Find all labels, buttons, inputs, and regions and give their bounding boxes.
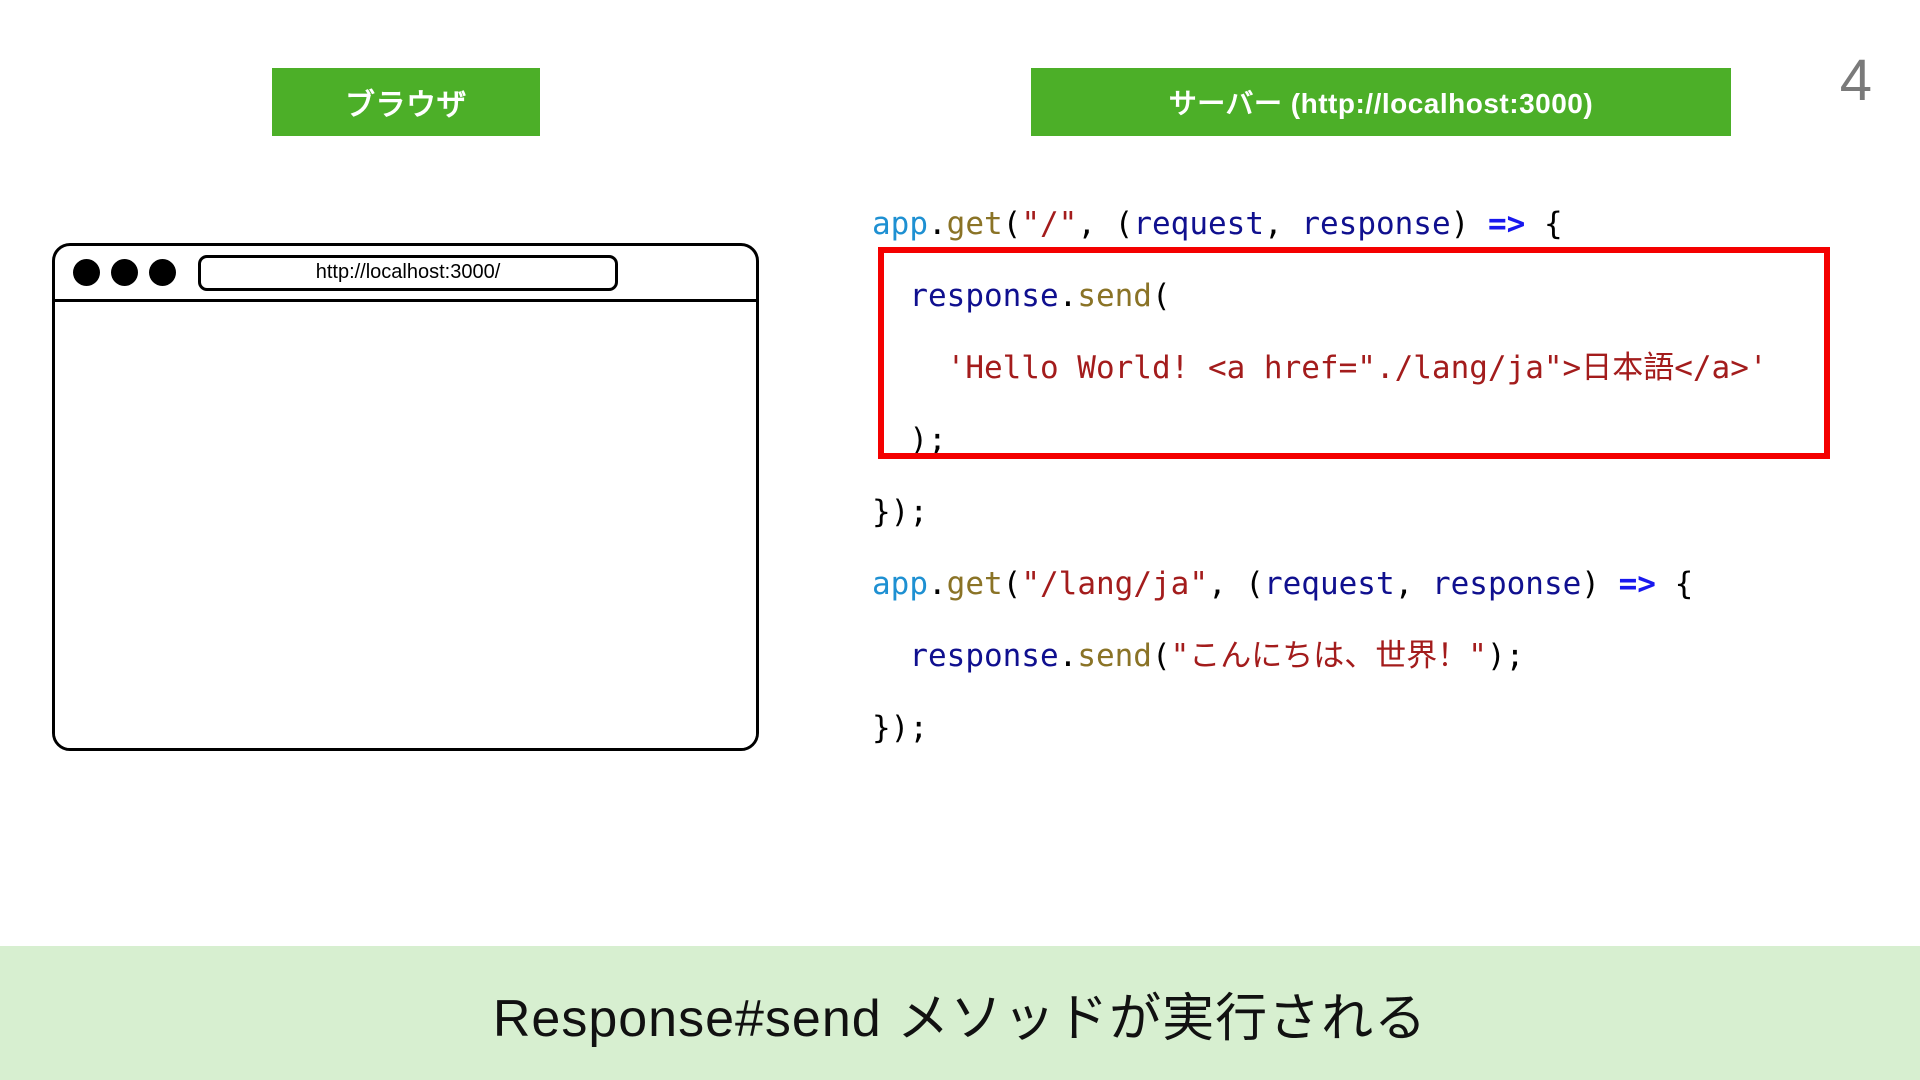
code-token-param: request: [1133, 206, 1264, 242]
code-line: );: [872, 404, 1882, 476]
code-line: response.send(: [872, 260, 1882, 332]
window-dot-icon[interactable]: [111, 259, 138, 286]
code-token-plain: ): [1451, 206, 1488, 242]
code-token-plain: ): [1581, 566, 1618, 602]
code-token-obj: app: [872, 566, 928, 602]
code-token-str: "/lang/ja": [1021, 566, 1208, 602]
code-token-plain: [872, 278, 909, 314]
code-token-param: request: [1264, 566, 1395, 602]
code-token-plain: , (: [1077, 206, 1133, 242]
code-token-plain: (: [1003, 206, 1022, 242]
code-line: });: [872, 692, 1882, 764]
browser-viewport: [55, 302, 756, 748]
code-token-plain: ,: [1395, 566, 1432, 602]
code-token-plain: ,: [1264, 206, 1301, 242]
code-line: });: [872, 476, 1882, 548]
code-token-plain: , (: [1208, 566, 1264, 602]
code-token-param: response: [909, 638, 1058, 674]
code-token-plain: });: [872, 710, 928, 746]
code-token-param: response: [909, 278, 1058, 314]
code-token-plain: {: [1525, 206, 1562, 242]
page-number: 4: [1840, 52, 1872, 110]
code-token-arrow: =>: [1619, 566, 1656, 602]
code-line: 'Hello World! <a href="./lang/ja">日本語</a…: [872, 332, 1882, 404]
address-bar[interactable]: http://localhost:3000/: [198, 255, 618, 291]
server-column-header-label: サーバー (http://localhost:3000): [1169, 82, 1593, 122]
code-token-plain: .: [928, 206, 947, 242]
code-token-method: get: [947, 566, 1003, 602]
code-line: response.send("こんにちは、世界！");: [872, 620, 1882, 692]
code-token-str: "/": [1021, 206, 1077, 242]
code-line: app.get("/", (request, response) => {: [872, 188, 1882, 260]
code-token-str: 'Hello World! <a href="./lang/ja">日本語</a…: [947, 350, 1768, 386]
browser-toolbar: http://localhost:3000/: [55, 246, 756, 302]
code-token-plain: );: [1487, 638, 1524, 674]
code-token-method: send: [1077, 278, 1152, 314]
code-token-plain: (: [1152, 278, 1171, 314]
code-token-method: get: [947, 206, 1003, 242]
code-token-plain: [872, 350, 947, 386]
code-token-plain: );: [872, 422, 947, 458]
server-column-header: サーバー (http://localhost:3000): [1031, 68, 1731, 136]
code-token-arrow: =>: [1488, 206, 1525, 242]
window-dot-icon[interactable]: [149, 259, 176, 286]
code-line: app.get("/lang/ja", (request, response) …: [872, 548, 1882, 620]
browser-window-mock: http://localhost:3000/: [52, 243, 759, 751]
code-token-plain: [872, 638, 909, 674]
code-token-plain: (: [1003, 566, 1022, 602]
code-token-str: "こんにちは、世界！": [1171, 638, 1487, 674]
code-token-plain: });: [872, 494, 928, 530]
address-bar-url: http://localhost:3000/: [316, 261, 501, 284]
code-token-plain: {: [1656, 566, 1693, 602]
code-token-plain: .: [1059, 638, 1078, 674]
browser-column-header-label: ブラウザ: [345, 80, 467, 124]
code-token-param: response: [1301, 206, 1450, 242]
code-token-plain: .: [1059, 278, 1078, 314]
browser-column-header: ブラウザ: [272, 68, 540, 136]
code-token-method: send: [1077, 638, 1152, 674]
window-dot-icon[interactable]: [73, 259, 100, 286]
server-code-block: app.get("/", (request, response) => { re…: [872, 188, 1882, 764]
window-controls: [73, 259, 176, 286]
caption-band: Response#send メソッドが実行される: [0, 946, 1920, 1080]
code-token-obj: app: [872, 206, 928, 242]
code-token-param: response: [1432, 566, 1581, 602]
code-token-plain: .: [928, 566, 947, 602]
caption-text: Response#send メソッドが実行される: [493, 976, 1427, 1051]
code-token-plain: (: [1152, 638, 1171, 674]
